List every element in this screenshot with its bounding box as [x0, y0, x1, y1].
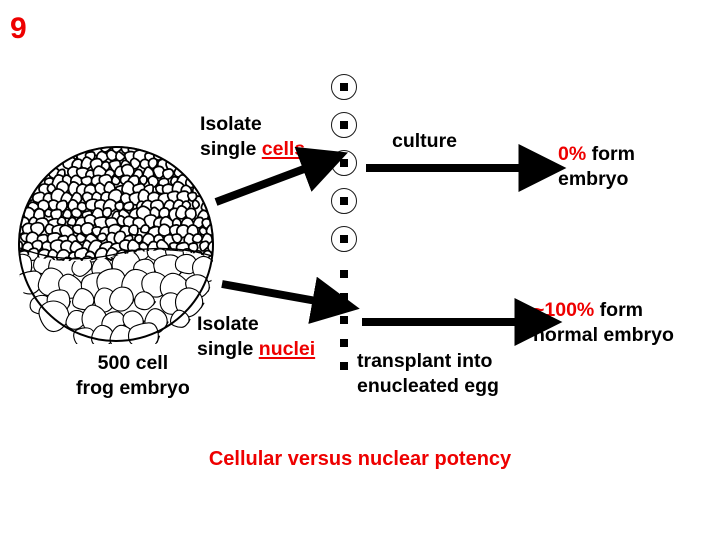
cell-nucleus-icon	[340, 197, 348, 205]
isolate-nuclei-prefix: single	[197, 338, 259, 360]
arrow-embryo-to-nuclei	[222, 284, 322, 302]
isolated-cells-column	[331, 74, 357, 264]
culture-label: culture	[392, 129, 457, 154]
isolate-cells-prefix: single	[200, 138, 262, 160]
result-bottom-label: ~100% form normal embryo	[533, 298, 674, 348]
isolate-nuclei-label: Isolate single nuclei	[197, 312, 315, 362]
isolated-cell-icon	[331, 226, 357, 252]
transplant-line1: transplant into	[357, 349, 499, 374]
isolated-nucleus-icon	[340, 270, 348, 278]
result-top-rest: form	[586, 143, 635, 165]
isolated-cell-icon	[331, 188, 357, 214]
cell-nucleus-icon	[340, 121, 348, 129]
isolate-cells-line2: single cells	[200, 137, 305, 162]
result-top-label: 0% form embryo	[558, 142, 635, 192]
isolate-cells-line1: Isolate	[200, 112, 305, 137]
embryo-caption-line2: frog embryo	[76, 376, 190, 401]
isolated-nucleus-icon	[340, 316, 348, 324]
result-bottom-rest: form	[594, 299, 643, 321]
cell-nucleus-icon	[340, 235, 348, 243]
arrow-embryo-to-cells	[216, 166, 312, 202]
result-top-percent: 0%	[558, 143, 586, 165]
isolated-nucleus-icon	[340, 293, 348, 301]
slide-number: 9	[10, 14, 27, 44]
embryo-caption-line1: 500 cell	[76, 351, 190, 376]
result-top-line1: 0% form	[558, 142, 635, 167]
cell-nucleus-icon	[340, 83, 348, 91]
result-bottom-percent: ~100%	[533, 299, 594, 321]
result-bottom-line2: normal embryo	[533, 323, 674, 348]
isolated-cell-icon	[331, 74, 357, 100]
frog-embryo-figure	[8, 144, 224, 349]
isolated-nuclei-column	[340, 270, 348, 385]
isolate-nuclei-line1: Isolate	[197, 312, 315, 337]
slide-caption: Cellular versus nuclear potency	[0, 448, 720, 471]
isolated-cell-icon	[331, 112, 357, 138]
transplant-label: transplant into enucleated egg	[357, 349, 499, 399]
cell-nucleus-icon	[340, 159, 348, 167]
isolated-nucleus-icon	[340, 362, 348, 370]
isolated-cell-icon	[331, 150, 357, 176]
embryo-caption: 500 cell frog embryo	[76, 351, 190, 401]
slide-canvas: 9	[0, 0, 720, 540]
transplant-line2: enucleated egg	[357, 374, 499, 399]
isolated-nucleus-icon	[340, 339, 348, 347]
frog-blastula-embryo-icon	[8, 144, 224, 344]
isolate-cells-label: Isolate single cells	[200, 112, 305, 162]
result-top-line2: embryo	[558, 167, 635, 192]
result-bottom-line1: ~100% form	[533, 298, 674, 323]
isolate-nuclei-line2: single nuclei	[197, 337, 315, 362]
isolate-cells-highlight: cells	[262, 138, 305, 160]
isolate-nuclei-highlight: nuclei	[259, 338, 315, 360]
